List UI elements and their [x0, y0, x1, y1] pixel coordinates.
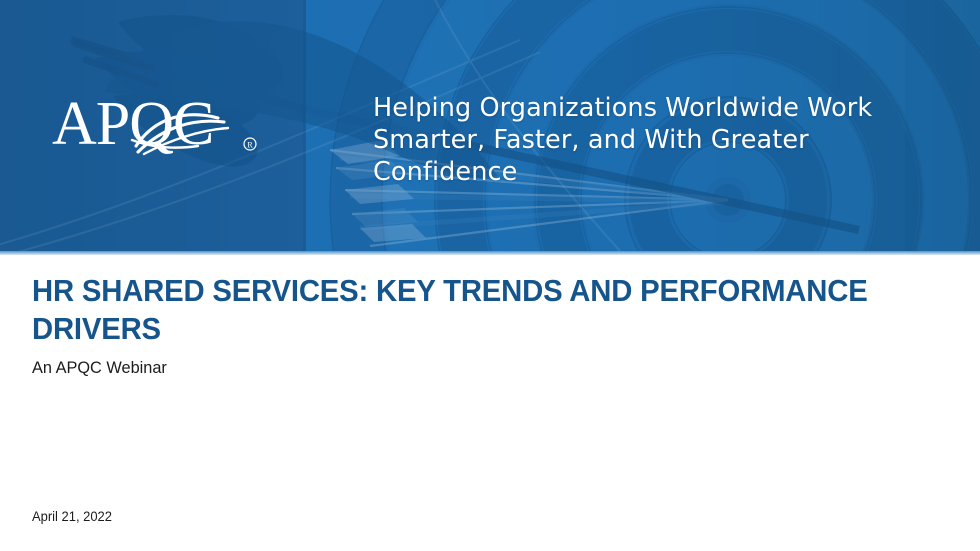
slide-subtitle: An APQC Webinar — [32, 357, 167, 379]
banner-bottom-rule — [0, 251, 980, 255]
tagline-line-1: Helping Organizations Worldwide Work — [373, 92, 948, 124]
apqc-logo: APQC R — [52, 88, 267, 162]
title-slide: APQC R Helping Organizations Worldwide W… — [0, 0, 980, 551]
apqc-logo-mark: APQC R — [52, 88, 267, 162]
slide-title: HR SHARED SERVICES: KEY TRENDS AND PERFO… — [32, 272, 887, 348]
registered-trademark-icon: R — [244, 138, 256, 150]
tagline-line-2: Smarter, Faster, and With Greater Confid… — [373, 124, 948, 188]
banner-tagline: Helping Organizations Worldwide Work Sma… — [373, 92, 948, 188]
svg-text:R: R — [247, 141, 253, 150]
slide-date: April 21, 2022 — [32, 508, 112, 526]
banner-header: APQC R Helping Organizations Worldwide W… — [0, 0, 980, 251]
